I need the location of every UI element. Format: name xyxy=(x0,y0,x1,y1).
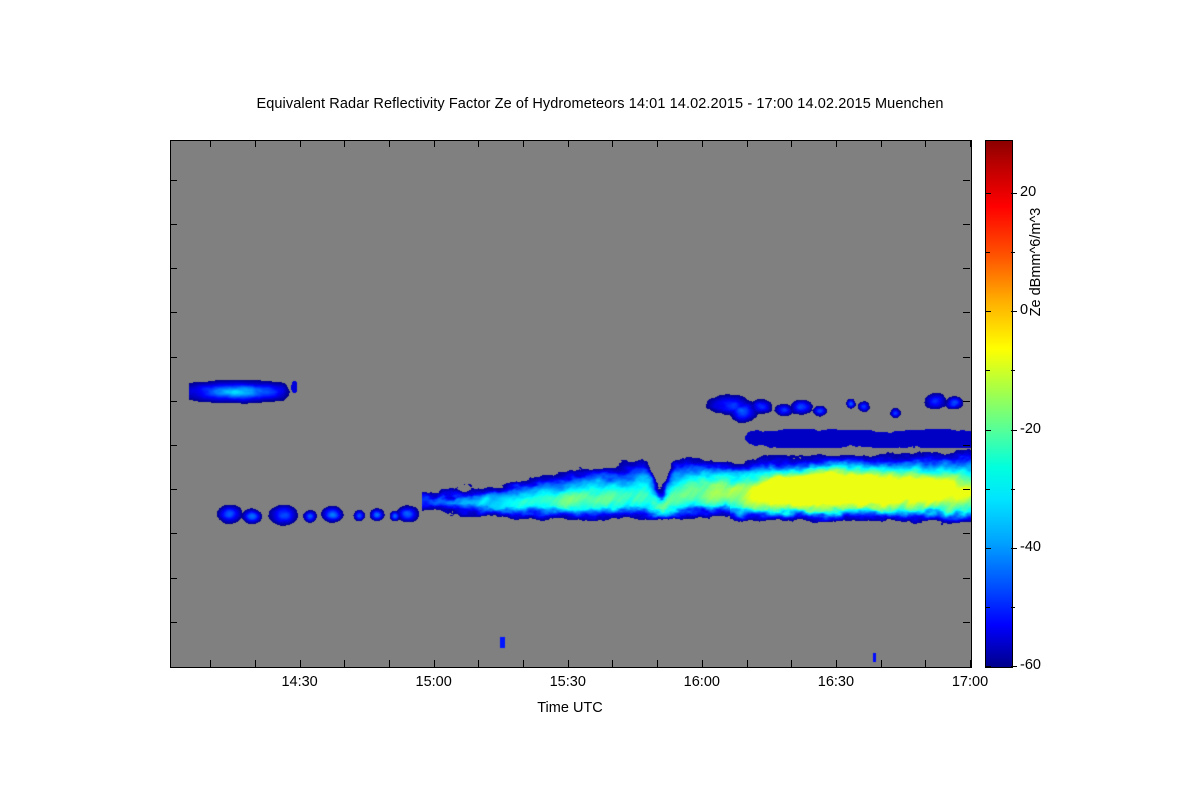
colorbar xyxy=(985,140,1013,668)
x-axis-label: Time UTC xyxy=(170,700,970,716)
x-tick-label: 16:30 xyxy=(796,674,876,690)
plot-area xyxy=(170,140,972,668)
x-tick-label: 15:00 xyxy=(394,674,474,690)
x-tick-label: 17:00 xyxy=(930,674,1010,690)
colorbar-tick-label: -60 xyxy=(1020,657,1041,673)
x-tick-label: 16:00 xyxy=(662,674,742,690)
x-tick-label: 14:30 xyxy=(260,674,340,690)
reflectivity-heatmap xyxy=(171,141,971,667)
colorbar-label: Ze dBmm^6/m^3 xyxy=(1028,112,1044,412)
colorbar-tick-label: -40 xyxy=(1020,539,1041,555)
colorbar-tick-label: -20 xyxy=(1020,421,1041,437)
radar-reflectivity-figure: Equivalent Radar Reflectivity Factor Ze … xyxy=(0,0,1200,800)
colorbar-tick-label: 0 xyxy=(1020,302,1028,318)
x-tick-label: 15:30 xyxy=(528,674,608,690)
chart-title: Equivalent Radar Reflectivity Factor Ze … xyxy=(0,96,1200,112)
